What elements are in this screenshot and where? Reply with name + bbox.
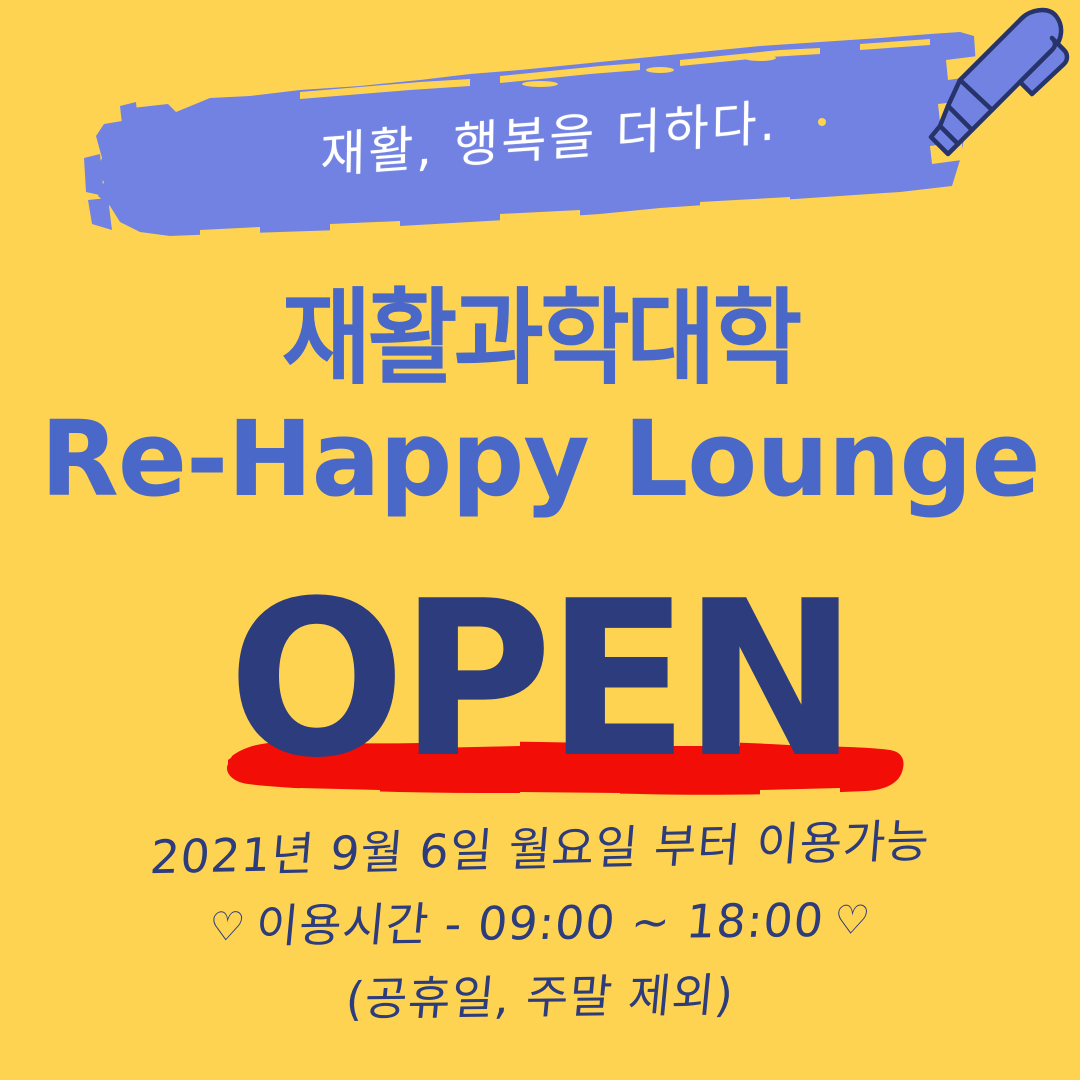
open-date-line: 2021년 9월 6일 월요일 부터 이용가능 <box>0 815 1080 884</box>
heart-right-icon: ♡ <box>832 901 873 941</box>
open-hours-line: ♡이용시간 - 09:00 ~ 18:00♡ <box>0 894 1080 951</box>
open-word: OPEN <box>16 572 1064 787</box>
heading-block: 재활과학대학 Re-Happy Lounge <box>0 285 1080 511</box>
info-block: 2021년 9월 6일 월요일 부터 이용가능 ♡이용시간 - 09:00 ~ … <box>0 826 1080 1020</box>
heart-left-icon: ♡ <box>207 907 248 947</box>
tagline-banner: 재활, 행복을 더하다. <box>0 0 1080 260</box>
open-hours-label: 이용시간 - 09:00 ~ 18:00 <box>253 893 826 953</box>
closed-days-line: (공휴일, 주말 제외) <box>0 968 1080 1025</box>
title-english: Re-Happy Lounge <box>11 407 1069 511</box>
poster-canvas: 재활, 행복을 더하다. 재활과학대학 Re-Happy Lounge OPEN… <box>0 0 1080 1080</box>
open-status-block: OPEN <box>0 560 1080 810</box>
title-korean: 재활과학대학 <box>32 285 1047 391</box>
